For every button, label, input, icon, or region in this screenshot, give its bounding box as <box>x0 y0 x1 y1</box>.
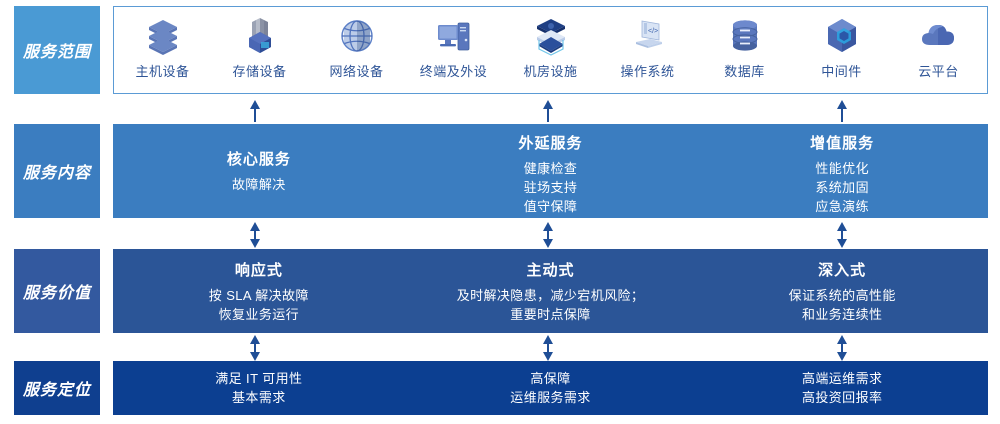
value-column-title: 深入式 <box>818 259 866 280</box>
cloud-platform-icon <box>916 15 962 57</box>
content-column-line: 性能优化 <box>815 159 869 178</box>
value-column-line: 按 SLA 解决故障 <box>209 286 309 305</box>
value-column-proactive[interactable]: 主动式 及时解决隐患，减少宕机风险； 重要时点保障 <box>405 249 697 333</box>
positioning-column-line: 高保障 <box>530 369 570 388</box>
scope-item-label: 网络设备 <box>329 61 383 80</box>
connector-scope-to-content-right <box>834 100 850 122</box>
positioning-column-highend[interactable]: 高端运维需求 高投资回报率 <box>696 361 988 415</box>
svg-text:</>: </> <box>648 28 658 35</box>
content-column-line: 健康检查 <box>524 159 578 178</box>
database-cylinder-icon <box>722 15 768 57</box>
positioning-column-line: 高投资回报率 <box>802 388 882 407</box>
content-column-extended-service[interactable]: 外延服务 健康检查 驻场支持 值守保障 <box>405 124 697 218</box>
connector-value-to-position-center <box>540 335 556 361</box>
row-label-service-scope: 服务范围 <box>14 6 100 94</box>
middleware-cube-icon <box>819 15 865 57</box>
connector-value-to-position-right <box>834 335 850 361</box>
scope-item-database[interactable]: 数据库 <box>696 15 793 80</box>
datacenter-facility-icon <box>528 15 574 57</box>
connector-scope-to-content-left <box>247 100 263 122</box>
scope-icon-strip: 主机设备 <box>114 7 987 101</box>
connector-content-to-value-right <box>834 222 850 248</box>
service-framework-diagram: 服务范围 主机设备 <box>0 0 1000 424</box>
positioning-column-line: 高端运维需求 <box>802 369 882 388</box>
positioning-column-line: 满足 IT 可用性 <box>215 369 302 388</box>
positioning-column-basic[interactable]: 满足 IT 可用性 基本需求 <box>113 361 405 415</box>
connector-content-to-value-center <box>540 222 556 248</box>
content-column-line: 应急演练 <box>815 197 869 216</box>
connector-value-to-position-left <box>247 335 263 361</box>
scope-item-label: 终端及外设 <box>420 61 488 80</box>
desktop-peripheral-icon <box>431 15 477 57</box>
content-column-line: 驻场支持 <box>524 178 578 197</box>
scope-item-label: 中间件 <box>821 61 862 80</box>
scope-item-operating-system[interactable]: </> 操作系统 <box>599 15 696 80</box>
content-column-title: 核心服务 <box>227 148 291 169</box>
value-column-responsive[interactable]: 响应式 按 SLA 解决故障 恢复业务运行 <box>113 249 405 333</box>
connector-content-to-value-left <box>247 222 263 248</box>
panel-service-scope: 主机设备 <box>113 6 988 94</box>
content-column-title: 增值服务 <box>810 132 874 153</box>
server-stack-icon <box>140 15 186 57</box>
scope-item-label: 操作系统 <box>620 61 674 80</box>
value-column-line: 和业务连续性 <box>802 305 882 324</box>
value-column-line: 保证系统的高性能 <box>789 286 896 305</box>
row-label-text: 服务定位 <box>23 376 91 400</box>
storage-array-icon <box>237 15 283 57</box>
content-column-line: 值守保障 <box>524 197 578 216</box>
scope-item-datacenter-facility[interactable]: 机房设施 <box>502 15 599 80</box>
scope-item-label: 云平台 <box>918 61 959 80</box>
row-label-text: 服务内容 <box>23 159 91 183</box>
connector-scope-to-content-center <box>540 100 556 122</box>
panel-service-value: 响应式 按 SLA 解决故障 恢复业务运行 主动式 及时解决隐患，减少宕机风险；… <box>113 249 988 333</box>
scope-item-label: 存储设备 <box>232 61 286 80</box>
row-label-service-positioning: 服务定位 <box>14 361 100 415</box>
positioning-column-line: 运维服务需求 <box>510 388 590 407</box>
positioning-column-assurance[interactable]: 高保障 运维服务需求 <box>405 361 697 415</box>
scope-item-cloud-platform[interactable]: 云平台 <box>890 15 987 80</box>
os-laptop-code-icon: </> <box>625 15 671 57</box>
value-column-title: 主动式 <box>527 259 575 280</box>
scope-item-host-equipment[interactable]: 主机设备 <box>114 15 211 80</box>
positioning-column-line: 基本需求 <box>232 388 286 407</box>
value-column-line: 恢复业务运行 <box>219 305 299 324</box>
content-column-value-added-service[interactable]: 增值服务 性能优化 系统加固 应急演练 <box>696 124 988 218</box>
value-column-line: 重要时点保障 <box>510 305 590 324</box>
positioning-columns: 满足 IT 可用性 基本需求 高保障 运维服务需求 高端运维需求 高投资回报率 <box>113 361 988 415</box>
panel-service-positioning: 满足 IT 可用性 基本需求 高保障 运维服务需求 高端运维需求 高投资回报率 <box>113 361 988 415</box>
content-column-core-service[interactable]: 核心服务 故障解决 <box>113 124 405 218</box>
row-label-service-value: 服务价值 <box>14 249 100 333</box>
content-columns: 核心服务 故障解决 外延服务 健康检查 驻场支持 值守保障 增值服务 性能优化 … <box>113 124 988 218</box>
row-label-text: 服务范围 <box>23 38 91 62</box>
value-columns: 响应式 按 SLA 解决故障 恢复业务运行 主动式 及时解决隐患，减少宕机风险；… <box>113 249 988 333</box>
value-column-line: 及时解决隐患，减少宕机风险； <box>457 286 645 305</box>
panel-service-content: 核心服务 故障解决 外延服务 健康检查 驻场支持 值守保障 增值服务 性能优化 … <box>113 124 988 218</box>
globe-network-icon <box>334 15 380 57</box>
value-column-indepth[interactable]: 深入式 保证系统的高性能 和业务连续性 <box>696 249 988 333</box>
row-label-service-content: 服务内容 <box>14 124 100 218</box>
scope-item-middleware[interactable]: 中间件 <box>793 15 890 80</box>
scope-item-label: 主机设备 <box>135 61 189 80</box>
scope-item-storage-equipment[interactable]: 存储设备 <box>211 15 308 80</box>
scope-item-label: 机房设施 <box>523 61 577 80</box>
scope-item-label: 数据库 <box>724 61 765 80</box>
content-column-title: 外延服务 <box>519 132 583 153</box>
content-column-line: 系统加固 <box>815 178 869 197</box>
scope-item-network-equipment[interactable]: 网络设备 <box>308 15 405 80</box>
row-label-text: 服务价值 <box>23 279 91 303</box>
scope-item-terminal-peripherals[interactable]: 终端及外设 <box>405 15 502 80</box>
content-column-line: 故障解决 <box>232 175 286 194</box>
value-column-title: 响应式 <box>235 259 283 280</box>
